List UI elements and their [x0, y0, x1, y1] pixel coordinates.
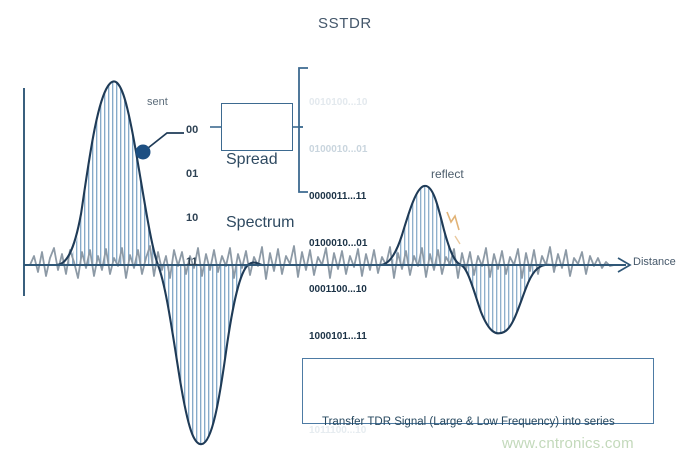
bit-symbol-list: 00 01 10 11	[186, 94, 198, 298]
binary-sequence-row: 0000011...11	[309, 189, 367, 205]
sent-marker-dot	[136, 145, 151, 160]
bit-symbol-10: 10	[186, 211, 198, 226]
sent-pulse-negative-lobe	[158, 265, 248, 444]
distance-axis-label: Distance	[633, 256, 676, 268]
caption-line-1: Transfer TDR Signal (Large & Low Frequen…	[322, 413, 616, 432]
reflect-label: reflect	[431, 167, 464, 181]
binary-sequence-row: 0010100...10	[309, 95, 367, 111]
sstdr-diagram: SSTDR sent reflect Distance 00 01 10 11 …	[0, 0, 682, 464]
reflect-accent-mark	[447, 212, 460, 244]
spread-spectrum-text: Spread Spectrum	[226, 107, 294, 275]
caption-box: Transfer TDR Signal (Large & Low Frequen…	[302, 358, 654, 424]
binary-sequence-row: 0001100...10	[309, 282, 367, 298]
spread-spectrum-line2: Spectrum	[226, 212, 294, 233]
spread-spectrum-box: Spread Spectrum	[221, 103, 293, 151]
binary-sequence-row: 0100010...01	[309, 142, 367, 158]
page-title: SSTDR	[318, 15, 372, 32]
watermark: www.cntronics.com	[502, 435, 634, 452]
bit-symbol-01: 01	[186, 167, 198, 182]
sent-leader-line	[136, 133, 185, 160]
binary-sequence-row: 0100010...01	[309, 236, 367, 252]
bit-symbol-00: 00	[186, 123, 198, 138]
sent-label: sent	[147, 96, 168, 108]
bit-symbol-11: 11	[186, 255, 198, 270]
binary-sequence-row: 1000101...11	[309, 329, 367, 345]
binary-block-bracket	[299, 68, 308, 192]
spread-spectrum-line1: Spread	[226, 149, 294, 170]
